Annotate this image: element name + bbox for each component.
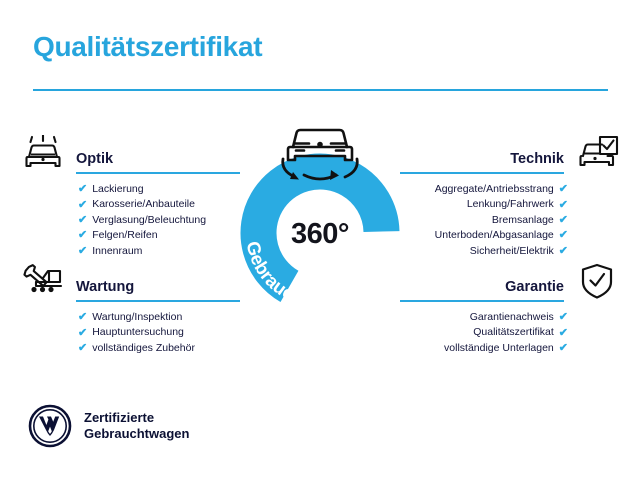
list-item-label: Wartung/Inspektion — [92, 310, 182, 325]
list-item-label: Bremsanlage — [492, 213, 554, 228]
section-title: Garantie — [400, 280, 564, 300]
list-item: ✔Hauptuntersuchung — [20, 325, 240, 340]
check-icon: ✔ — [559, 312, 568, 323]
list-item: ✔Karosserie/Anbauteile — [20, 197, 240, 212]
section-optik: Optik ✔Lackierung ✔Karosserie/Anbauteile… — [20, 130, 240, 259]
list-item-label: Unterboden/Abgasanlage — [435, 228, 554, 243]
section-title: Wartung — [76, 280, 240, 300]
list-item: ✔Innenraum — [20, 244, 240, 259]
section-technik: Technik ✔Aggregate/Antriebsstrang ✔Lenku… — [400, 130, 620, 259]
footer-line-1: Zertifizierte — [84, 410, 189, 426]
list-item-label: Lackierung — [92, 182, 143, 197]
checklist-wartung: ✔Wartung/Inspektion ✔Hauptuntersuchung ✔… — [20, 310, 240, 356]
badge-center-label: 360° — [222, 218, 418, 251]
list-item-label: Innenraum — [92, 244, 142, 259]
section-underline — [76, 172, 240, 174]
list-item: ✔Lackierung — [20, 182, 240, 197]
list-item: ✔Garantienachweis — [400, 310, 620, 325]
checklist-optik: ✔Lackierung ✔Karosserie/Anbauteile ✔Verg… — [20, 182, 240, 259]
section-underline — [400, 172, 564, 174]
footer-line-2: Gebrauchtwagen — [84, 426, 189, 442]
list-item-label: Garantienachweis — [470, 310, 554, 325]
list-item-label: Karosserie/Anbauteile — [92, 197, 195, 212]
list-item-label: vollständige Unterlagen — [444, 341, 554, 356]
check-icon: ✔ — [559, 200, 568, 211]
list-item: ✔Qualitätszertifikat — [400, 325, 620, 340]
list-item-label: vollständiges Zubehör — [92, 341, 195, 356]
check-icon: ✔ — [78, 184, 87, 195]
section-underline — [76, 300, 240, 302]
list-item: ✔Felgen/Reifen — [20, 228, 240, 243]
checklist-technik: ✔Aggregate/Antriebsstrang ✔Lenkung/Fahrw… — [400, 182, 620, 259]
section-underline — [400, 300, 564, 302]
list-item: ✔Bremsanlage — [400, 213, 620, 228]
list-item: ✔Wartung/Inspektion — [20, 310, 240, 325]
list-item-label: Sicherheit/Elektrik — [470, 244, 554, 259]
section-wartung: Wartung ✔Wartung/Inspektion ✔Hauptunters… — [20, 258, 240, 356]
check-icon: ✔ — [78, 200, 87, 211]
check-icon: ✔ — [78, 343, 87, 354]
check-icon: ✔ — [78, 328, 87, 339]
check-icon: ✔ — [78, 246, 87, 257]
check-icon: ✔ — [78, 312, 87, 323]
certificate-page: Qualitätszertifikat — [0, 0, 640, 480]
list-item: ✔vollständiges Zubehör — [20, 341, 240, 356]
shield-check-icon — [574, 262, 620, 302]
list-item: ✔Lenkung/Fahrwerk — [400, 197, 620, 212]
list-item-label: Felgen/Reifen — [92, 228, 157, 243]
list-item-label: Aggregate/Antriebsstrang — [435, 182, 554, 197]
list-item: ✔vollständige Unterlagen — [400, 341, 620, 356]
footer-text: Zertifizierte Gebrauchtwagen — [84, 410, 189, 442]
section-title: Optik — [76, 152, 240, 172]
list-item-label: Lenkung/Fahrwerk — [467, 197, 554, 212]
footer-brand: Zertifizierte Gebrauchtwagen — [28, 404, 189, 448]
checklist-garantie: ✔Garantienachweis ✔Qualitätszertifikat ✔… — [400, 310, 620, 356]
check-icon: ✔ — [559, 328, 568, 339]
list-item-label: Qualitätszertifikat — [473, 325, 554, 340]
title-divider — [33, 89, 608, 91]
check-icon: ✔ — [78, 230, 87, 241]
check-icon: ✔ — [559, 343, 568, 354]
badge-360-gebrauchtwagen-check: Gebrauchtwagen-Check — [222, 113, 418, 318]
list-item-label: Verglasung/Beleuchtung — [92, 213, 206, 228]
check-icon: ✔ — [559, 184, 568, 195]
list-item-label: Hauptuntersuchung — [92, 325, 184, 340]
check-icon: ✔ — [559, 215, 568, 226]
check-icon: ✔ — [559, 246, 568, 257]
wrench-car-icon — [20, 262, 66, 302]
section-title: Technik — [400, 152, 564, 172]
check-icon: ✔ — [559, 230, 568, 241]
vw-logo — [28, 404, 72, 448]
page-title: Qualitätszertifikat — [33, 33, 262, 61]
list-item: ✔Unterboden/Abgasanlage — [400, 228, 620, 243]
car-shine-icon — [20, 134, 66, 174]
list-item: ✔Aggregate/Antriebsstrang — [400, 182, 620, 197]
check-icon: ✔ — [78, 215, 87, 226]
list-item: ✔Sicherheit/Elektrik — [400, 244, 620, 259]
car-checkbox-icon — [574, 134, 620, 174]
list-item: ✔Verglasung/Beleuchtung — [20, 213, 240, 228]
section-garantie: Garantie ✔Garantienachweis ✔Qualitätszer… — [400, 258, 620, 356]
